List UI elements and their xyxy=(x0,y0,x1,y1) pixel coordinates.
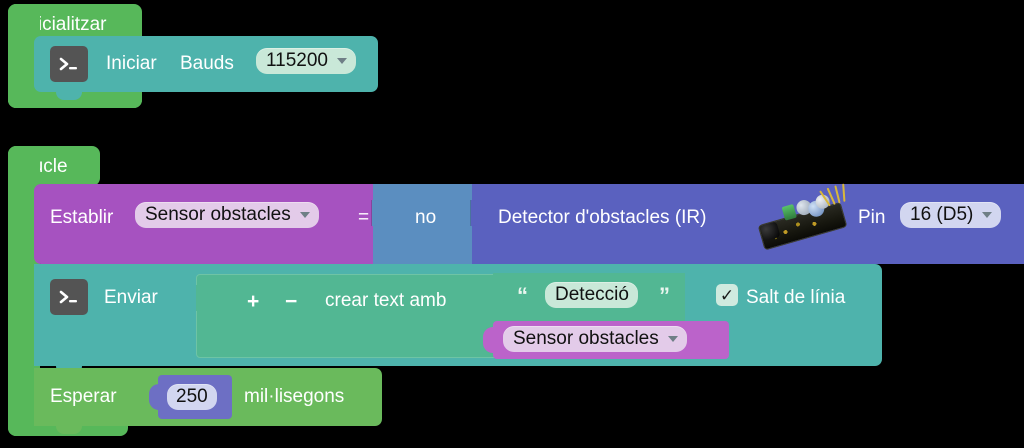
bottom-notch xyxy=(56,425,82,434)
equals-label: = xyxy=(358,208,369,227)
create-text-label: crear text amb xyxy=(325,291,446,310)
bauds-dropdown[interactable]: 115200 xyxy=(256,48,356,74)
ir-obstacle-sensor-image xyxy=(754,186,858,255)
chevron-down-icon xyxy=(300,212,310,218)
top-notch xyxy=(56,264,82,272)
ir-sensor-block[interactable]: Detector d'obstacles (IR) Pin 16 (D5) xyxy=(472,184,1024,264)
open-quote-icon: “ xyxy=(517,285,528,307)
pin-dropdown-value: 16 (D5) xyxy=(910,205,973,224)
esperar-label: Esperar xyxy=(50,387,117,406)
number-field[interactable]: 250 xyxy=(167,384,217,410)
serial-begin-block[interactable]: Iniciar Bauds 115200 xyxy=(34,36,378,92)
bottom-notch xyxy=(56,91,82,100)
top-notch xyxy=(56,36,82,44)
value-tab xyxy=(372,200,384,226)
value-tab xyxy=(149,384,161,410)
ir-sensor-label: Detector d'obstacles (IR) xyxy=(498,208,706,227)
value-tab xyxy=(483,327,496,353)
establir-label: Establir xyxy=(50,208,113,227)
units-label: mil·lisegons xyxy=(244,387,344,406)
wait-block[interactable]: Esperar 250 mil·lisegons xyxy=(34,368,382,426)
enviar-label: Enviar xyxy=(104,288,158,307)
create-text-block[interactable]: + − crear text amb “ Detecció ” Sensor o… xyxy=(196,274,680,358)
serial-send-block[interactable]: Enviar + − crear text amb “ Detecció ” S… xyxy=(34,264,882,366)
number-block[interactable]: 250 xyxy=(158,375,232,419)
serial-begin-label: Iniciar xyxy=(106,54,157,73)
mutator-remove-button[interactable]: − xyxy=(285,291,297,312)
text-string-field[interactable]: Detecció xyxy=(545,282,638,308)
variable-get-value: Sensor obstacles xyxy=(513,329,659,348)
close-quote-icon: ” xyxy=(659,285,670,307)
value-tab xyxy=(196,285,208,311)
value-tab xyxy=(471,200,483,226)
chevron-down-icon xyxy=(982,212,992,218)
chevron-down-icon xyxy=(337,58,347,64)
newline-checkbox[interactable]: ✓ xyxy=(716,284,738,306)
number-value: 250 xyxy=(176,387,208,406)
terminal-icon xyxy=(50,46,88,82)
not-block[interactable]: no xyxy=(373,184,473,264)
top-notch xyxy=(56,368,82,376)
variable-dropdown[interactable]: Sensor obstacles xyxy=(135,202,319,228)
pin-label: Pin xyxy=(858,208,885,227)
blockly-workspace[interactable]: Inicialitzar Iniciar Bauds 115200 Bucle … xyxy=(0,0,1024,448)
bauds-label: Bauds xyxy=(180,54,234,73)
mutator-add-button[interactable]: + xyxy=(247,291,259,312)
value-tab xyxy=(492,283,504,309)
chevron-down-icon xyxy=(668,336,678,342)
terminal-icon xyxy=(50,279,88,315)
newline-checkbox-label: Salt de línia xyxy=(746,288,845,307)
variable-get-block[interactable]: Sensor obstacles xyxy=(493,321,729,359)
bauds-dropdown-value: 115200 xyxy=(266,51,328,70)
pin-dropdown[interactable]: 16 (D5) xyxy=(900,202,1001,228)
variable-dropdown-value: Sensor obstacles xyxy=(145,205,291,224)
not-label: no xyxy=(415,208,436,227)
variable-get-dropdown[interactable]: Sensor obstacles xyxy=(503,326,687,352)
text-string-block[interactable]: “ Detecció ” xyxy=(493,273,685,321)
top-notch xyxy=(56,184,82,192)
text-string-value: Detecció xyxy=(555,285,629,304)
